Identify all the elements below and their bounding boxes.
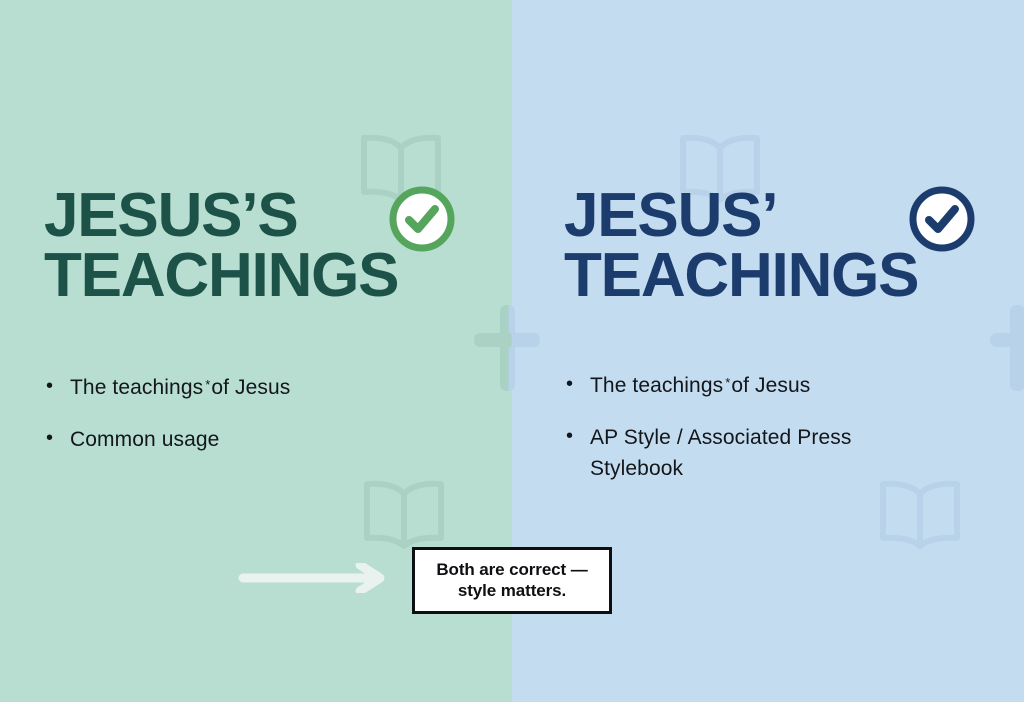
bullet-text-main: The teachings [590, 374, 723, 397]
bullet-list-right: The teachings*of Jesus AP Style / Associ… [564, 370, 988, 484]
check-circle-icon [389, 186, 455, 252]
list-item: Common usage [44, 424, 430, 455]
bullet-list-left: The teachings*of Jesus Common usage [44, 372, 468, 455]
check-circle-icon [909, 186, 975, 252]
list-item: AP Style / Associated Press Stylebook [564, 422, 950, 484]
bullet-text-main: The teachings [70, 376, 203, 399]
arrow-right-icon [238, 563, 390, 598]
comparison-graphic: JESUS’S TEACHINGS The teachings*of Jesus… [0, 0, 1024, 702]
open-book-watermark-icon [358, 478, 450, 555]
verdict-callout-box: Both are correct — style matters. [412, 547, 612, 614]
bullet-text-tail: of Jesus [211, 376, 290, 399]
list-item: The teachings*of Jesus [564, 370, 950, 401]
list-item: The teachings*of Jesus [44, 372, 430, 403]
bullet-text-main: AP Style / Associated Press Stylebook [590, 426, 851, 480]
panel-content-left: JESUS’S TEACHINGS The teachings*of Jesus… [0, 0, 512, 455]
open-book-watermark-icon [874, 478, 966, 555]
bullet-text-main: Common usage [70, 428, 219, 451]
heading-row-right: JESUS’ TEACHINGS [564, 0, 988, 306]
verdict-text: Both are correct — style matters. [423, 559, 601, 601]
bullet-text-tail: of Jesus [731, 374, 810, 397]
panel-content-right: JESUS’ TEACHINGS The teachings*of Jesus … [512, 0, 1024, 484]
heading-row-left: JESUS’S TEACHINGS [44, 0, 468, 306]
